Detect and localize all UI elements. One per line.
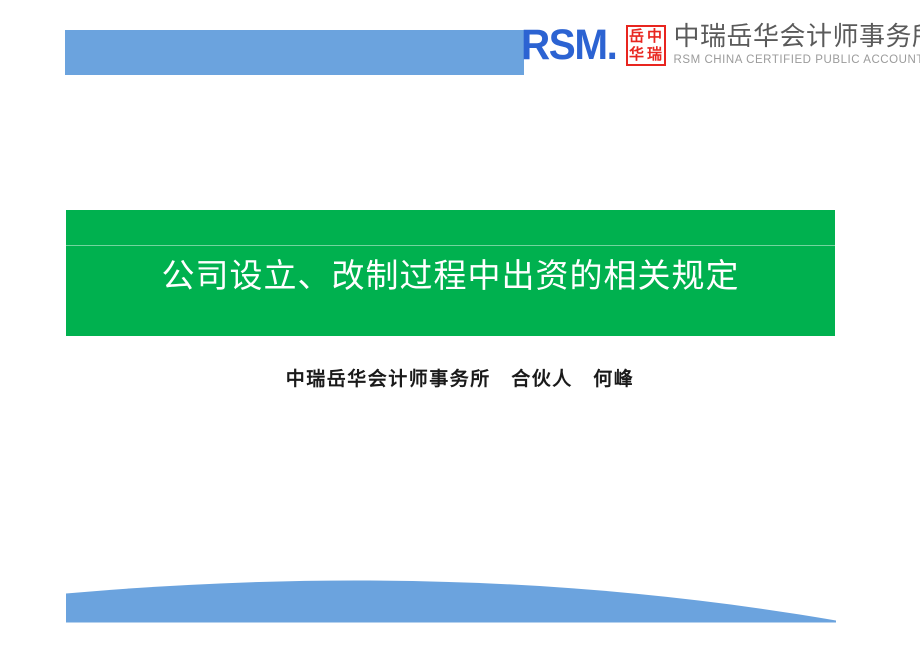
company-name-english: RSM CHINA CERTIFIED PUBLIC ACCOUNTANTS <box>674 53 920 67</box>
slide-title: 公司设立、改制过程中出资的相关规定 <box>66 254 835 298</box>
title-banner: 公司设立、改制过程中出资的相关规定 <box>66 210 835 336</box>
rsm-logo: RSM. 岳 中 华 瑞 中瑞岳华会计师事务所 RSM CHINA CERTIF… <box>521 22 920 78</box>
title-slide: RSM. 岳 中 华 瑞 中瑞岳华会计师事务所 RSM CHINA CERTIF… <box>0 0 920 651</box>
seal-char-4: 瑞 <box>646 46 664 65</box>
seal-char-2: 中 <box>646 27 664 46</box>
seal-char-3: 华 <box>628 46 646 65</box>
presenter-line: 中瑞岳华会计师事务所 合伙人 何峰 <box>0 366 920 392</box>
seal-char-1: 岳 <box>628 27 646 46</box>
logo-company-names: 中瑞岳华会计师事务所 RSM CHINA CERTIFIED PUBLIC AC… <box>674 22 920 67</box>
title-divider-line <box>66 245 835 246</box>
company-name-chinese: 中瑞岳华会计师事务所 <box>674 22 920 52</box>
chinese-seal-icon: 岳 中 华 瑞 <box>626 25 666 66</box>
footer-swoosh <box>0 560 920 651</box>
header-accent-band <box>65 30 524 75</box>
rsm-wordmark: RSM. <box>521 24 616 67</box>
swoosh-shape <box>66 580 836 622</box>
